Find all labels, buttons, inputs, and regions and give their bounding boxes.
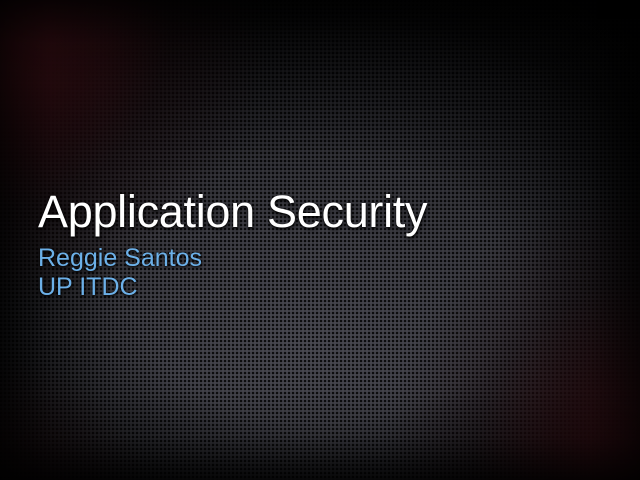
slide-subtitle-line-presenter: Reggie Santos <box>38 244 598 273</box>
presentation-slide: Application Security Reggie Santos UP IT… <box>0 0 640 480</box>
slide-text-block: Application Security Reggie Santos UP IT… <box>38 186 598 302</box>
slide-title: Application Security <box>38 186 598 238</box>
slide-subtitle: Reggie Santos UP ITDC <box>38 244 598 302</box>
slide-subtitle-line-organization: UP ITDC <box>38 273 598 302</box>
